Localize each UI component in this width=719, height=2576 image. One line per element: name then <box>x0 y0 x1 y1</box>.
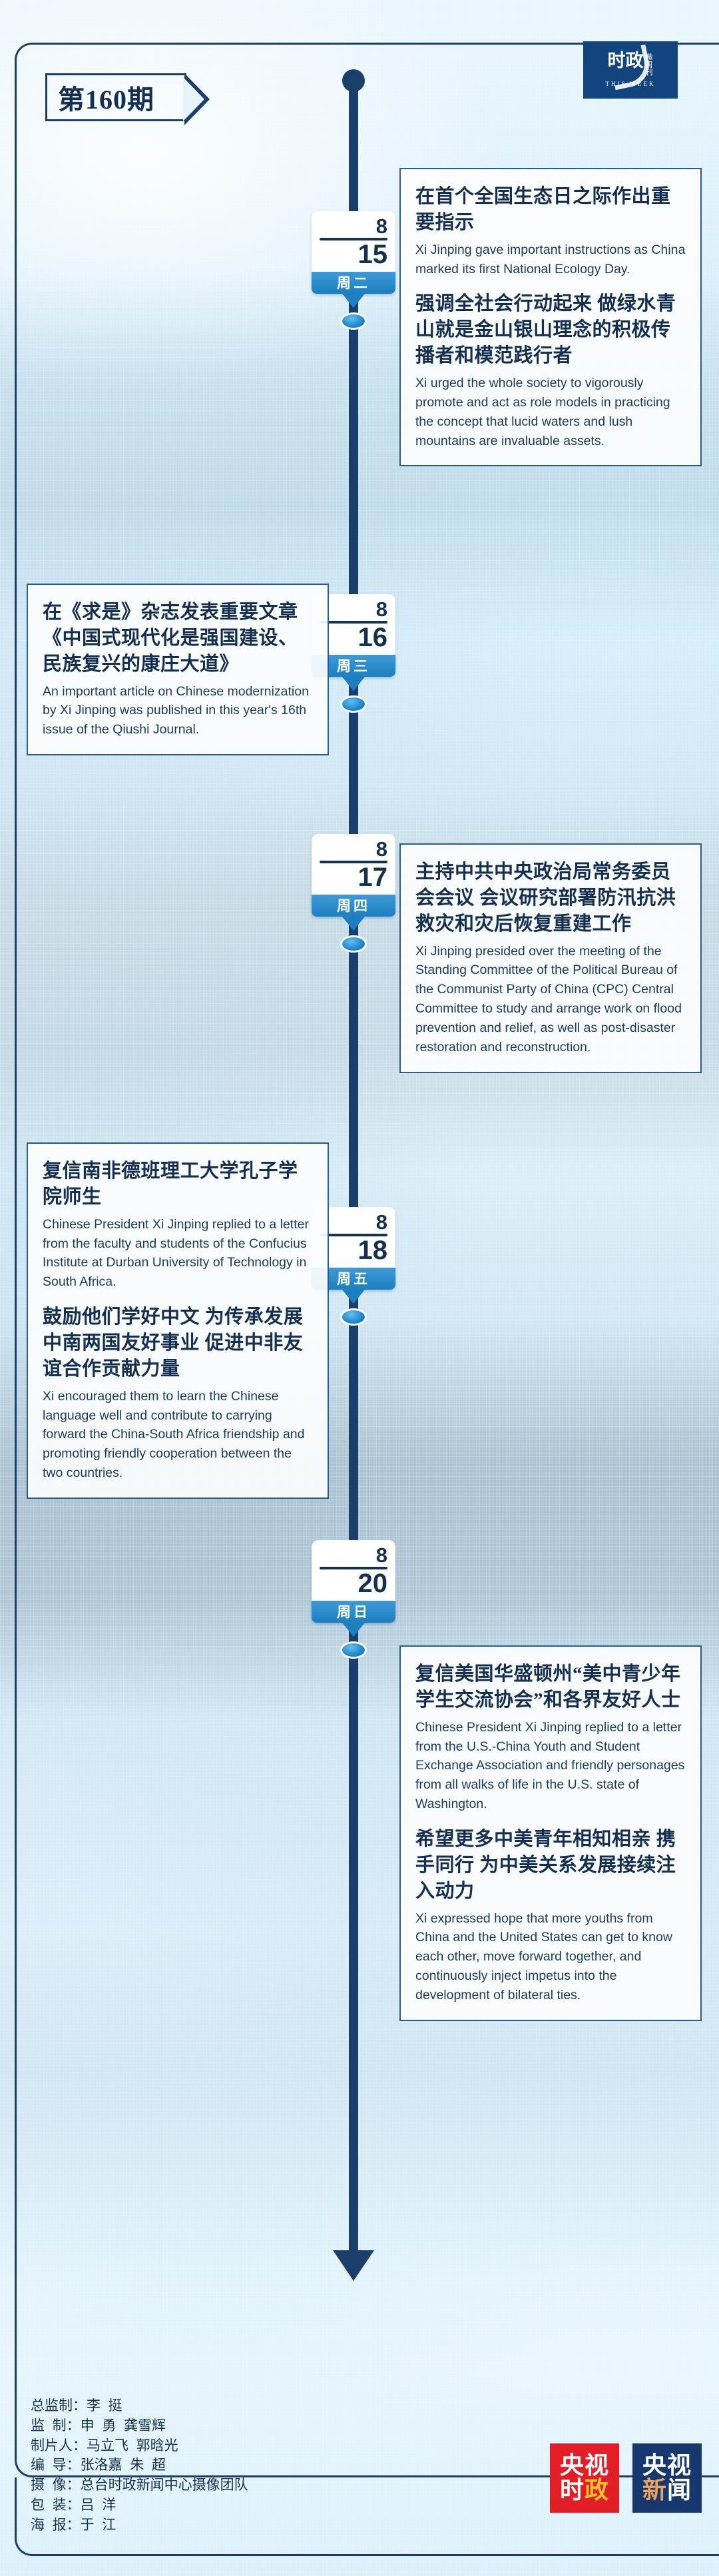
issue-label: 第160期 <box>58 78 154 117</box>
date-day: 15 <box>320 241 387 268</box>
date-month: 8 <box>320 839 387 859</box>
headline-cn: 希望更多中美青年相知相亲 携手同行 为中美关系发展接续注入动力 <box>415 1827 687 1905</box>
headline-en: Xi encouraged them to learn the Chinese … <box>43 1387 314 1483</box>
date-month: 8 <box>320 1212 387 1232</box>
headline-en: Chinese President Xi Jinping replied to … <box>415 1718 687 1814</box>
marker-pointer-icon <box>342 294 365 308</box>
date-weekday: 周二 <box>312 272 395 294</box>
event-card-aug18: 复信南非德班理工大学孔子学院师生Chinese President Xi Jin… <box>27 1142 329 1499</box>
cctv-news-logo[interactable]: 央视 新闻 <box>632 2443 702 2513</box>
cctv-news-bottom: 新闻 <box>642 2478 692 2503</box>
event-block: 希望更多中美青年相知相亲 携手同行 为中美关系发展接续注入动力Xi expres… <box>415 1827 687 2005</box>
headline-cn: 复信美国华盛顿州“美中青少年学生交流协会”和各界友好人士 <box>415 1661 687 1713</box>
brand-side-text: 微周刊 <box>646 54 654 77</box>
timeline-node-aug18[interactable] <box>340 1308 367 1326</box>
headline-en: Chinese President Xi Jinping replied to … <box>43 1215 314 1292</box>
headline-cn: 在《求是》杂志发表重要文章《中国式现代化是强国建设、民族复兴的康庄大道》 <box>43 600 314 677</box>
headline-cn: 复信南非德班理工大学孔子学院师生 <box>43 1158 314 1210</box>
timeline-arrow-icon <box>333 2250 374 2281</box>
event-block: 强调全社会行动起来 做绿水青山就是金山银山理念的积极传播者和模范践行者Xi ur… <box>415 291 687 450</box>
date-month: 8 <box>320 600 387 620</box>
date-day: 20 <box>320 1570 387 1597</box>
issue-badge: 第160期 <box>45 73 186 121</box>
footer-logos: 央视 时政 央视 新闻 <box>550 2443 702 2513</box>
event-block: 鼓励他们学好中文 为传承发展中南两国友好事业 促进中非友谊合作贡献力量Xi en… <box>43 1304 314 1483</box>
date-marker-aug15: 815周二 <box>312 211 395 294</box>
date-marker-aug17: 817周四 <box>312 834 395 917</box>
event-block: 复信美国华盛顿州“美中青少年学生交流协会”和各界友好人士Chinese Pres… <box>415 1661 687 1814</box>
marker-pointer-icon <box>342 1623 365 1637</box>
date-weekday: 周日 <box>312 1601 395 1623</box>
brand-logo: 时政 微周刊 THIS WEEK <box>583 41 678 99</box>
date-box: 817 <box>312 834 395 895</box>
event-card-aug16: 在《求是》杂志发表重要文章《中国式现代化是强国建设、民族复兴的康庄大道》An i… <box>27 584 329 755</box>
brand-main-text: 时政 <box>608 53 644 70</box>
timeline-node-aug15[interactable] <box>340 312 367 330</box>
date-day: 16 <box>320 624 387 651</box>
event-block: 在《求是》杂志发表重要文章《中国式现代化是强国建设、民族复兴的康庄大道》An i… <box>43 600 314 739</box>
headline-en: Xi Jinping gave important instructions a… <box>415 240 687 279</box>
event-block: 主持中共中央政治局常务委员会会议 会议研究部署防汛抗洪救灾和灾后恢复重建工作Xi… <box>415 859 687 1057</box>
marker-pointer-icon <box>342 917 365 931</box>
timeline-node-aug20[interactable] <box>340 1641 367 1659</box>
event-card-aug17: 主持中共中央政治局常务委员会会议 会议研究部署防汛抗洪救灾和灾后恢复重建工作Xi… <box>399 843 702 1073</box>
event-card-aug15: 在首个全国生态日之际作出重要指示Xi Jinping gave importan… <box>399 168 702 466</box>
event-block: 复信南非德班理工大学孔子学院师生Chinese President Xi Jin… <box>43 1158 314 1292</box>
cctv-politics-top: 央视 <box>560 2453 609 2478</box>
marker-pointer-icon <box>342 1290 365 1304</box>
headline-cn: 主持中共中央政治局常务委员会会议 会议研究部署防汛抗洪救灾和灾后恢复重建工作 <box>415 859 687 937</box>
date-box: 815 <box>312 211 395 272</box>
date-weekday: 周四 <box>312 895 395 917</box>
headline-en: Xi urged the whole society to vigorously… <box>415 374 687 450</box>
date-day: 18 <box>320 1237 387 1264</box>
marker-pointer-icon <box>342 677 365 691</box>
date-day: 17 <box>320 864 387 891</box>
brand-english-text: THIS WEEK <box>605 81 655 87</box>
headline-cn: 强调全社会行动起来 做绿水青山就是金山银山理念的积极传播者和模范践行者 <box>415 291 687 369</box>
headline-en: Xi Jinping presided over the meeting of … <box>415 942 687 1057</box>
cctv-politics-bottom: 时政 <box>560 2478 609 2503</box>
date-box: 820 <box>312 1540 395 1601</box>
date-month: 8 <box>320 1545 387 1565</box>
timeline-node-aug17[interactable] <box>340 935 367 953</box>
timeline-node-aug16[interactable] <box>340 695 367 713</box>
headline-en: An important article on Chinese moderniz… <box>43 682 314 740</box>
date-marker-aug20: 820周日 <box>312 1540 395 1623</box>
headline-cn: 鼓励他们学好中文 为传承发展中南两国友好事业 促进中非友谊合作贡献力量 <box>43 1304 314 1382</box>
event-card-aug20: 复信美国华盛顿州“美中青少年学生交流协会”和各界友好人士Chinese Pres… <box>399 1645 702 2021</box>
headline-en: Xi expressed hope that more youths from … <box>415 1909 687 2005</box>
cctv-politics-logo[interactable]: 央视 时政 <box>550 2443 619 2513</box>
headline-cn: 在首个全国生态日之际作出重要指示 <box>415 184 687 236</box>
event-block: 在首个全国生态日之际作出重要指示Xi Jinping gave importan… <box>415 184 687 278</box>
timeline-axis <box>349 75 358 2253</box>
date-month: 8 <box>320 216 387 236</box>
credits-block: 总监制：李 挺 监 制：申 勇 龚雪辉 制片人：马立飞 郭晗光 编 导：张洛嘉 … <box>31 2396 248 2535</box>
cctv-news-top: 央视 <box>642 2453 692 2478</box>
